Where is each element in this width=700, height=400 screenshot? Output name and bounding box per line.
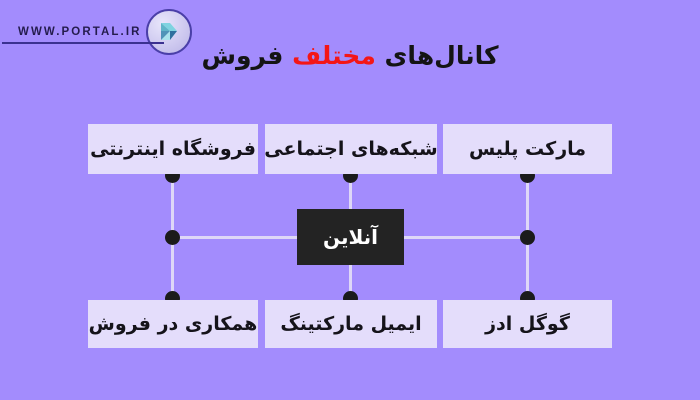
node-marketplace: مارکت پلیس xyxy=(443,124,612,174)
node-social-networks: شبکه‌های اجتماعی xyxy=(265,124,437,174)
sales-channels-diagram: فروشگاه اینترنتی شبکه‌های اجتماعی مارکت … xyxy=(0,0,700,400)
node-google-ads-label: گوگل ادز xyxy=(485,313,570,335)
node-affiliate-sales-label: همکاری در فروش xyxy=(89,313,258,335)
node-email-marketing-label: ایمیل مارکتینگ xyxy=(280,313,421,335)
node-online-shop-label: فروشگاه اینترنتی xyxy=(90,138,256,160)
node-marketplace-label: مارکت پلیس xyxy=(469,138,586,160)
node-affiliate-sales: همکاری در فروش xyxy=(88,300,258,348)
connector-horizontal-right xyxy=(402,236,528,239)
node-social-networks-label: شبکه‌های اجتماعی xyxy=(264,138,437,160)
node-online-shop: فروشگاه اینترنتی xyxy=(88,124,258,174)
connector-dot-mid-left xyxy=(165,230,180,245)
node-google-ads: گوگل ادز xyxy=(443,300,612,348)
node-online-center: آنلاین xyxy=(297,209,404,265)
node-online-center-label: آنلاین xyxy=(323,225,378,249)
connector-dot-mid-right xyxy=(520,230,535,245)
node-email-marketing: ایمیل مارکتینگ xyxy=(265,300,437,348)
connector-horizontal-left xyxy=(171,236,299,239)
